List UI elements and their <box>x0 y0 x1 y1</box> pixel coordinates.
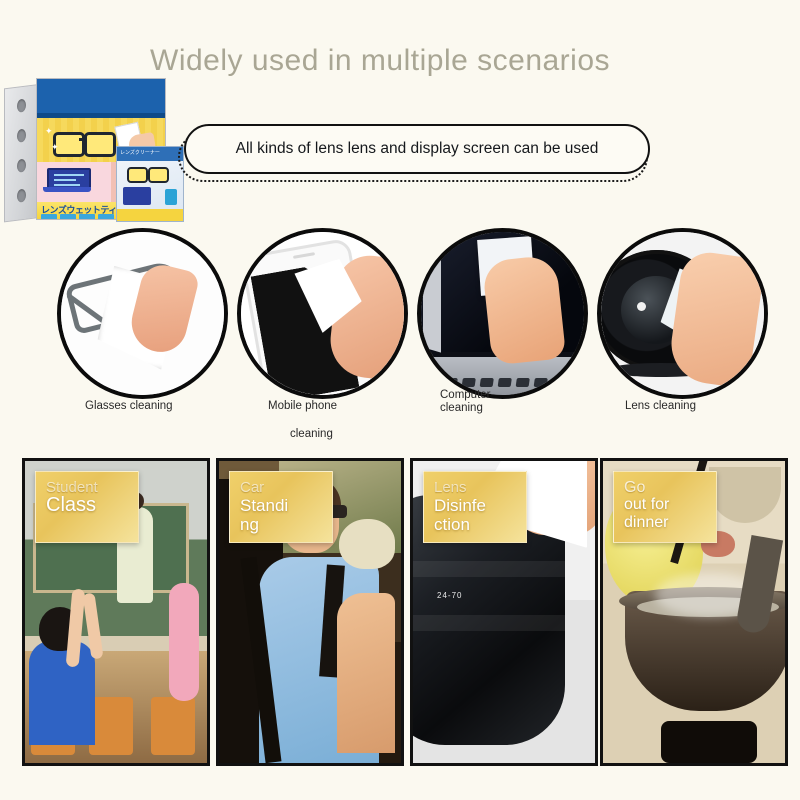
scenario-circle-lens <box>597 228 768 399</box>
banner: All kinds of lens lens and display scree… <box>174 122 652 184</box>
scenario-circle-glasses <box>57 228 228 399</box>
card-go-out-dinner: Go out for dinner <box>600 458 788 766</box>
sachet-label: レンズクリーナー <box>120 149 160 156</box>
card-car-standing: Car Standi ng <box>216 458 404 766</box>
caption-line: Lens cleaning <box>625 399 696 413</box>
card-label-line2: out for <box>624 496 708 514</box>
card-label-line1: Go <box>624 479 708 496</box>
package-laptop-icon <box>43 168 91 194</box>
card-label-main-line1: Disinfe <box>434 496 518 515</box>
card-lens-disinfection: 24-70 Lens Disinfe ction <box>410 458 598 766</box>
card-label-car-standing: Car Standi ng <box>229 471 333 543</box>
card-label-main-line2: ction <box>434 515 518 534</box>
caption-glasses-cleaning: Glasses cleaning <box>85 399 173 413</box>
lens-marking: 24-70 <box>437 591 462 600</box>
card-label-main-line1: Standi <box>240 496 324 515</box>
banner-pill: All kinds of lens lens and display scree… <box>184 124 650 174</box>
caption-line: Computer <box>440 389 491 402</box>
scenario-circle-mobile-phone <box>237 228 408 399</box>
caption-line: cleaning <box>440 402 491 415</box>
card-label-main-line2: ng <box>240 515 324 534</box>
banner-text: All kinds of lens lens and display scree… <box>236 140 599 158</box>
scenario-circle-computer <box>417 228 588 399</box>
caption-lens-cleaning: Lens cleaning <box>625 399 696 413</box>
card-label-top: Car <box>240 479 324 496</box>
card-label-main: Class <box>46 496 130 515</box>
card-label-student-class: Student Class <box>35 471 139 543</box>
card-label-line3: dinner <box>624 514 708 532</box>
caption-computer-cleaning: Computer cleaning <box>440 389 491 415</box>
caption-mobile-phone-cleaning: Mobile phone cleaning <box>268 399 337 441</box>
caption-line: Mobile phone <box>268 399 337 413</box>
page-title: Widely used in multiple scenarios <box>150 44 610 78</box>
caption-line: Glasses cleaning <box>85 399 173 413</box>
product-package-image: ✦ ✦ レンズウェットティッシュ <box>2 74 182 224</box>
package-glasses-icon <box>53 132 113 152</box>
card-label-top: Lens <box>434 479 518 496</box>
scenario-circles <box>0 228 800 398</box>
package-icon-row <box>41 214 114 220</box>
advertisement-page: Widely used in multiple scenarios ✦ ✦ <box>0 0 800 800</box>
caption-line: cleaning <box>290 427 337 441</box>
card-student-class: Student Class <box>22 458 210 766</box>
scenario-cards: Student Class Car Standi ng <box>0 458 800 763</box>
card-label-go-out-dinner: Go out for dinner <box>613 471 717 543</box>
card-label-lens-disinfection: Lens Disinfe ction <box>423 471 527 543</box>
